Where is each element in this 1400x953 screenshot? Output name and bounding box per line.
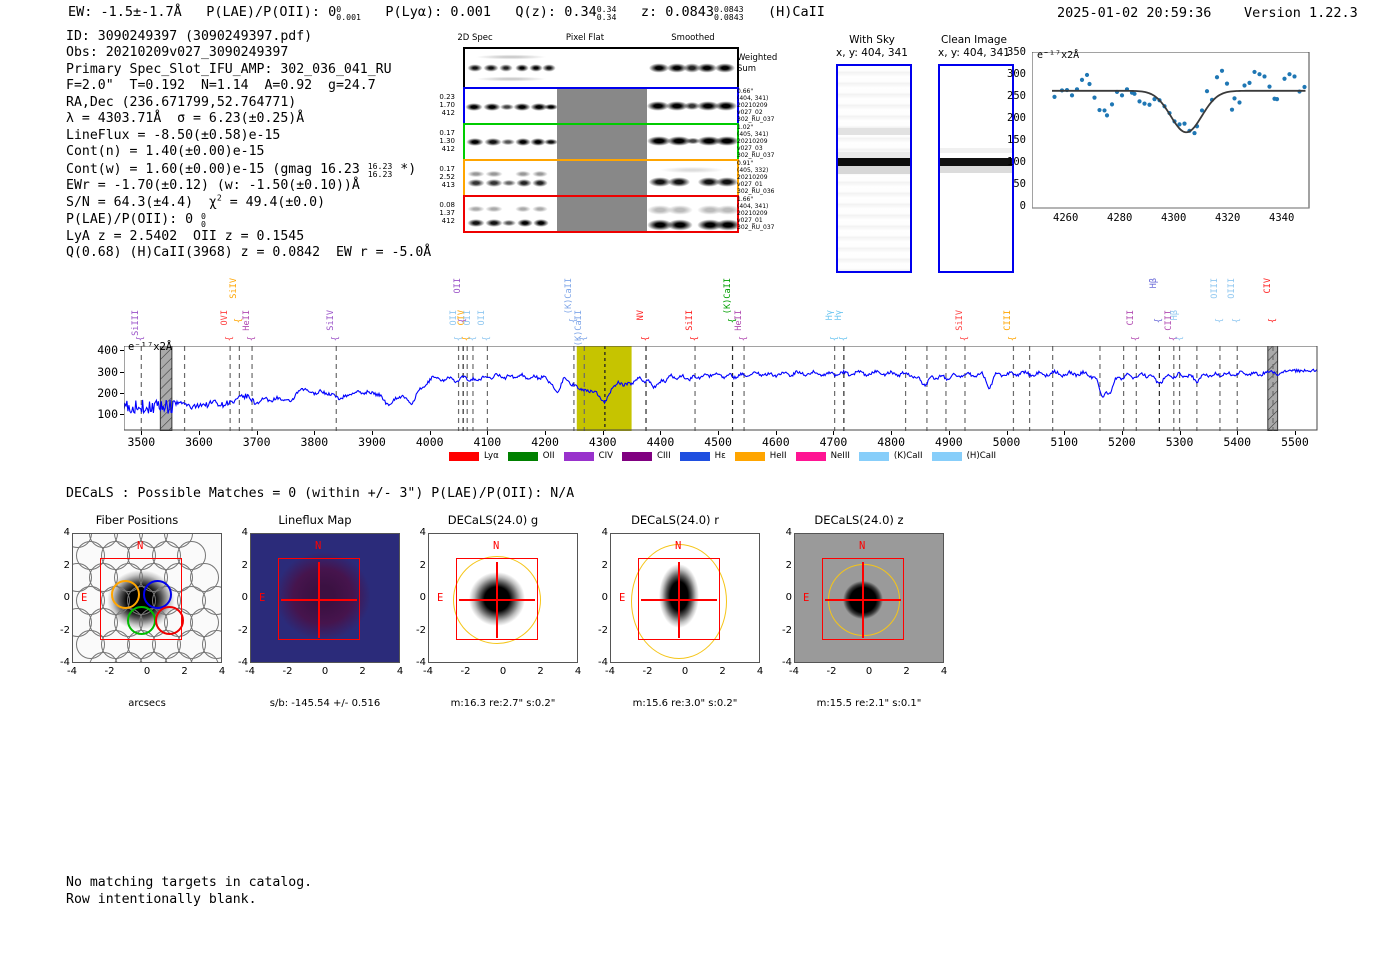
info-z: LyA z = 2.5402 OII z = 0.1545 [66,229,431,245]
spec2d-col-title-smoothed: Smoothed [653,33,733,43]
spectrum-xtick-3600: 3600 [179,435,219,449]
fiber-row-1 [463,123,739,161]
fiber-2-smoothed [647,161,737,195]
fiber-0-2dspec [465,89,557,123]
legend-swatch [508,452,538,461]
panel-ytick: 4 [772,527,792,538]
with-sky-title-2: x, y: 404, 341 [822,47,922,59]
spectrum-xtick-3900: 3900 [352,435,392,449]
spectrum-line-label: SiIV [955,310,965,331]
fiber-row-3-left-1: 1.37 [429,209,455,217]
weighted-sum-2dspec [465,49,557,87]
spectrum-line-brace: { [641,336,651,341]
spectrum-line-label: OIII [1210,278,1220,299]
north-marker: N [315,540,321,552]
panel-ytick: 4 [228,527,248,538]
info-obs: Obs: 20210209v027_3090249397 [66,45,431,61]
spectrum-line-brace: { [690,336,700,341]
panel-title-0: Fiber Positions [57,513,217,527]
legend-swatch [680,452,710,461]
fiber-row-3 [463,195,739,233]
fiber-row-0-left-0: 0.23 [429,93,455,101]
legend-label: CIII [657,451,671,461]
fiber-1-pixelflat [557,125,647,159]
info-id: ID: 3090249397 (3090249397.pdf) [66,29,431,45]
legend-swatch [932,452,962,461]
gauss-xtick-4340: 4340 [1269,212,1294,224]
spectrum-xtick-mark [199,431,200,435]
spectrum-line-brace: { [839,336,849,341]
spectrum-line-label: SiII [685,310,695,331]
spectrum-line-label: HeII [734,310,744,331]
panel-ytick: 0 [50,592,70,603]
spectrum-xtick-mark [949,431,950,435]
crosshair-vertical [678,562,680,638]
spectrum-xtick-mark [1295,431,1296,435]
fiber-3-pixelflat [557,197,647,231]
north-marker: N [137,540,143,552]
gauss-ytick-150: 150 [1000,134,1026,146]
spectrum-xtick-5400: 5400 [1217,435,1257,449]
spectrum-xtick-4700: 4700 [813,435,853,449]
spectrum-line-brace: { [468,336,478,341]
legend-label: CIV [599,451,613,461]
spectrum-line-brace: { [247,336,257,341]
fiber-3-right-4: 302_RU_037 [737,224,797,232]
sn-pre: S/N = 64.3(±4.4) [66,195,209,210]
panel-ytick: -4 [406,657,426,668]
north-marker: N [675,540,681,552]
panel-xtick: 2 [529,666,553,677]
weighted-sum-label-2: Sum [737,66,807,74]
version: Version 1.22.3 [1244,5,1358,21]
legend-entry: (H)CaII [932,451,997,461]
gauss-ytick-0: 0 [1000,200,1026,212]
line-profile-plot: 350 300 250 200 150 100 50 0 4260 4280 4… [1032,52,1310,220]
info-lambda: λ = 4303.71Å σ = 6.23(±0.25)Å [66,111,431,127]
cont-w-post: *) [392,162,416,177]
spectrum-xtick-4200: 4200 [525,435,565,449]
gauss-xtick-4300: 4300 [1161,212,1186,224]
panel-image-1[interactable]: NE [250,533,400,663]
panel-xtick: 4 [932,666,956,677]
legend-entry: (K)CaII [859,451,923,461]
z-species: (H)CaII [768,4,825,20]
info-lineflux: LineFlux = -8.50(±0.58)e-15 [66,128,431,144]
panel-ytick: 0 [228,592,248,603]
spectrum-xtick-mark [430,431,431,435]
spectrum-line-label: CII [1126,310,1136,326]
panel-ytick: 0 [406,592,426,603]
info-plae-frac: 00 [201,212,206,228]
fiber-row-0-left-2: 412 [429,109,455,117]
spectrum-line-brace: { [1215,318,1225,323]
panel-ytick: -4 [50,657,70,668]
spectrum-xtick-mark [545,431,546,435]
panel-ytick: -4 [772,657,792,668]
spectrum-xtick-5000: 5000 [987,435,1027,449]
spectrum-xtick-5100: 5100 [1044,435,1084,449]
gauss-xtick-4280: 4280 [1107,212,1132,224]
spec2d-weighted-sum-row [463,47,739,89]
spectrum-xtick-mark [141,431,142,435]
spectrum-line-label: Hβ [1149,278,1159,288]
spectrum-line-label: Hβ [1170,310,1180,320]
fiber-row-0-left-1: 1.70 [429,101,455,109]
gauss-flux-annotation: e⁻¹⁷x2Å [1037,50,1079,61]
legend-entry: OII [508,451,555,461]
crosshair-vertical [496,562,498,638]
spectrum-ytick-mark [120,350,124,351]
spec2d-col-title-2dspec: 2D Spec [435,33,515,43]
spectrum-xtick-mark [891,431,892,435]
chi-symbol: χ [209,195,217,210]
fiber-3-2dspec [465,197,557,231]
plae-value: 0 [328,4,336,20]
spectrum-line-brace: { [739,336,749,341]
spectrum-line-brace: { [1131,336,1141,341]
panel-ytick: 0 [772,592,792,603]
spectrum-xtick-3500: 3500 [121,435,161,449]
spectrum-line-label: OIII [1227,278,1237,299]
spectrum-xtick-mark [718,431,719,435]
spectrum-ytick-mark [120,372,124,373]
panel-xtick: -2 [98,666,122,677]
sn-post: = 49.4(±0.0) [222,195,325,210]
spectrum-xtick-mark [487,431,488,435]
spectrum-xtick-5200: 5200 [1102,435,1142,449]
spectrum-xtick-mark [833,431,834,435]
legend-entry: Lyα [449,451,499,461]
legend-swatch [622,452,652,461]
panel-ytick: 0 [588,592,608,603]
spectrum-xtick-4800: 4800 [871,435,911,449]
panel-title-2: DECaLS(24.0) g [413,513,573,527]
spectrum-legend: LyαOIICIVCIIIHεHeIINeIII(K)CaII(H)CaII [449,451,1005,461]
fiber-0-smoothed [647,89,737,123]
spectrum-ytick-200: 200 [88,386,118,400]
spectrum-xtick-mark [372,431,373,435]
spectrum-line-brace: { [136,336,146,341]
spectrum-axes [124,346,1318,431]
fiber-row-1-left-1: 1.30 [429,137,455,145]
panel-ytick: 4 [50,527,70,538]
spectrum-xtick-mark [314,431,315,435]
panel-ytick: -2 [50,625,70,636]
spectrum-ytick-mark [120,414,124,415]
gauss-xtick-4320: 4320 [1215,212,1240,224]
east-marker: E [437,592,443,604]
panel-ytick: 2 [772,560,792,571]
info-cont-w: Cont(w) = 1.60(±0.00)e-15 (gmag 16.23 16… [66,161,431,179]
spectrum-xtick-mark [257,431,258,435]
qz-label: Q(z): [515,4,556,20]
target-info-block: ID: 3090249397 (3090249397.pdf) Obs: 202… [66,29,431,262]
spectrum-line-brace: { [1175,336,1185,341]
panel-xtick: 2 [351,666,375,677]
legend-swatch [564,452,594,461]
north-marker: N [493,540,499,552]
spectrum-line-brace: { [1268,318,1278,323]
crosshair-vertical [318,562,320,638]
spectrum-ytick-400: 400 [88,343,118,357]
legend-label: Hε [715,451,726,461]
z-frac: 0.08430.0843 [714,5,744,21]
timestamp-version: 2025-01-02 20:59:36 Version 1.22.3 [1057,5,1358,21]
weighted-sum-smoothed [647,49,737,87]
gauss-ytick-200: 200 [1000,112,1026,124]
footer-note: No matching targets in catalog. Row inte… [66,875,312,908]
plya-value: 0.001 [450,4,491,20]
legend-label: NeIII [831,451,850,461]
spectrum-line-brace: { [1232,318,1242,323]
east-marker: E [803,592,809,604]
legend-label: OII [543,451,555,461]
spectrum-xtick-5500: 5500 [1275,435,1315,449]
panel-ytick: -2 [228,625,248,636]
plae-frac: 00.001 [336,5,361,21]
ew-label: EW: [68,4,92,20]
spectrum-line-label: CIII [1003,310,1013,331]
spectrum-xtick-4600: 4600 [756,435,796,449]
legend-label: (K)CaII [894,451,923,461]
gauss-ytick-300: 300 [1000,68,1026,80]
panel-xtick: 4 [566,666,590,677]
spectrum-xtick-mark [1180,431,1181,435]
panel-xtick: 0 [135,666,159,677]
spectrum-line-brace: { [1154,318,1164,323]
plae-label: P(LAE)/P(OII): [206,4,320,20]
gauss-ytick-100: 100 [1000,156,1026,168]
spectrum-flux-annotation: e⁻¹⁷x2Å [128,341,172,353]
panel-ytick: 2 [588,560,608,571]
gauss-xtick-4260: 4260 [1053,212,1078,224]
gauss-svg [1032,52,1310,210]
spectrum-xtick-mark [1237,431,1238,435]
spectrum-line-label: OII [463,310,473,326]
panel-ytick: 2 [228,560,248,571]
spectrum-xtick-mark [776,431,777,435]
spectrum-line-label: OII [477,310,487,326]
spectrum-xtick-mark [603,431,604,435]
cont-w-frac: 16.2316.23 [368,162,393,178]
panel-image-4[interactable]: NE [794,533,944,663]
info-q: Q(0.68) (H)CaII(3968) z = 0.0842 EW r = … [66,245,431,261]
spectrum-line-brace: { [331,336,341,341]
fiber-1-2dspec [465,125,557,159]
panel-image-3[interactable]: NE [610,533,760,663]
panel-image-2[interactable]: NE [428,533,578,663]
info-sn: S/N = 64.3(±4.4) χ2 = 49.4(±0.0) [66,195,431,211]
panel-xtick: 2 [895,666,919,677]
panel-title-3: DECaLS(24.0) r [595,513,755,527]
info-ewr: EWr = -1.70(±0.12) (w: -1.50(±0.10))Å [66,178,431,194]
footer-line-1: No matching targets in catalog. [66,875,312,892]
fiber-3-smoothed [647,197,737,231]
legend-swatch [449,452,479,461]
weighted-sum-pixelflat [557,49,647,87]
timestamp: 2025-01-02 20:59:36 [1057,5,1211,21]
spectrum-xtick-mark [1007,431,1008,435]
red-aperture-box [100,558,182,640]
fiber-2-pixelflat [557,161,647,195]
legend-swatch [859,452,889,461]
gauss-ytick-50: 50 [1000,178,1026,190]
gauss-ytick-250: 250 [1000,90,1026,102]
panel-xtick: 4 [748,666,772,677]
spectrum-xtick-4300: 4300 [583,435,623,449]
spec2d-col-title-pixelflat: Pixel Flat [545,33,625,43]
gauss-ytick-350: 350 [1000,46,1026,58]
spectrum-line-label: SiIII [131,310,141,336]
east-marker: E [259,592,265,604]
panel-ytick: 4 [588,527,608,538]
spectrum-line-label: HeII [242,310,252,331]
footer-line-2: Row intentionally blank. [66,892,312,909]
weighted-sum-label-1: Weighted [737,55,807,63]
legend-entry: CIII [622,451,671,461]
info-params: F=2.0" T=0.192 N=1.14 A=0.92 g=24.7 [66,78,431,94]
spectrum-line-label: OVI [220,310,230,326]
fiber-row-3-left-0: 0.08 [429,201,455,209]
spectrum-line-label: CIV [1263,278,1273,294]
plya-label: P(Lyα): [385,4,442,20]
panel-xtick: 2 [173,666,197,677]
panel-xtick: 0 [673,666,697,677]
spectrum-ytick-mark [120,393,124,394]
fiber-row-2-left-1: 2.52 [429,173,455,181]
with-sky-image [836,64,912,273]
info-primary: Primary Spec_Slot_IFU_AMP: 302_036_041_R… [66,62,431,78]
spectrum-xtick-3800: 3800 [294,435,334,449]
panel-xtick: -2 [820,666,844,677]
panel-ytick: 2 [406,560,426,571]
spectrum-line-label: Hγ [834,310,844,320]
spectrum-line-brace: { [225,336,235,341]
spectrum-line-brace: { [1008,336,1018,341]
legend-label: HeII [770,451,787,461]
info-cont-n: Cont(n) = 1.40(±0.00)e-15 [66,144,431,160]
panel-ytick: 2 [50,560,70,571]
spectrum-xtick-5300: 5300 [1160,435,1200,449]
fiber-row-1-left-2: 412 [429,145,455,153]
panel-caption-4: m:15.5 re:2.1" s:0.1" [759,698,979,709]
spectrum-line-label: NV [636,310,646,320]
fiber-2-right-4: 302_RU_036 [737,188,797,196]
panel-xtick: -2 [636,666,660,677]
with-sky-title-1: With Sky [822,34,922,46]
panel-xtick: 0 [491,666,515,677]
qz-value: 0.34 [564,4,597,20]
north-marker: N [859,540,865,552]
clean-image-title-1: Clean Image [924,34,1024,46]
z-value: 0.0843 [665,4,714,20]
plae-pre: P(LAE)/P(OII): 0 [66,212,201,227]
east-marker: E [81,592,87,604]
panel-ytick: -4 [228,657,248,668]
spectrum-xtick-4500: 4500 [698,435,738,449]
fiber-0-right-4: 302_RU_037 [737,116,797,124]
legend-swatch [796,452,826,461]
legend-entry: HeII [735,451,787,461]
fiber-row-2 [463,159,739,197]
panel-xtick: -2 [454,666,478,677]
fiber-1-right-4: 302_RU_037 [737,152,797,160]
spectrum-xtick-mark [1122,431,1123,435]
spectrum-xtick-4000: 4000 [410,435,450,449]
legend-entry: NeIII [796,451,850,461]
panel-ytick: -2 [406,625,426,636]
cont-w-pre: Cont(w) = 1.60(±0.00)e-15 (gmag 16.23 [66,162,368,177]
panel-ytick: -2 [588,625,608,636]
legend-swatch [735,452,765,461]
spectrum-xtick-4400: 4400 [640,435,680,449]
spectrum-line-brace: { [482,336,492,341]
east-marker: E [619,592,625,604]
spectrum-line-label: (K)CaII [564,278,574,314]
legend-label: Lyα [484,451,499,461]
panel-title-1: Lineflux Map [235,513,395,527]
fiber-row-0 [463,87,739,125]
summary-header: EW: -1.5±-1.7Å P(LAE)/P(OII): 000.001 P(… [68,4,825,20]
fiber-2-2dspec [465,161,557,195]
ew-value: -1.5±-1.7Å [101,4,182,20]
panel-xtick: 0 [857,666,881,677]
spectrum-svg [124,346,1318,431]
qz-frac: 0.340.34 [597,5,617,21]
decals-header: DECaLS : Possible Matches = 0 (within +/… [66,486,574,501]
panel-title-4: DECaLS(24.0) z [779,513,939,527]
fiber-row-2-left-2: 413 [429,181,455,189]
spectrum-xtick-mark [1064,431,1065,435]
spectrum-xtick-4100: 4100 [467,435,507,449]
panel-xtick: 2 [711,666,735,677]
fiber-0-pixelflat [557,89,647,123]
z-label: z: [641,4,657,20]
spectrum-ytick-300: 300 [88,365,118,379]
spectrum-line-label: OII [453,278,463,294]
spectrum-line-brace: { [960,336,970,341]
fiber-1-smoothed [647,125,737,159]
info-radec: RA,Dec (236.671799,52.764771) [66,95,431,111]
legend-entry: Hε [680,451,726,461]
spectrum-line-label: SiIV [229,278,239,299]
legend-entry: CIV [564,451,613,461]
panel-ytick: 4 [406,527,426,538]
spectrum-line-brace: { [579,336,589,341]
fiber-row-3-left-2: 412 [429,217,455,225]
panel-xtick: 0 [313,666,337,677]
fiber-row-2-left-0: 0.17 [429,165,455,173]
panel-ytick: -2 [772,625,792,636]
spectrum-ytick-100: 100 [88,407,118,421]
info-plae: P(LAE)/P(OII): 0 00 [66,211,431,229]
legend-label: (H)CaII [967,451,997,461]
panel-xtick: -2 [276,666,300,677]
crosshair-vertical [862,562,864,638]
spectrum-line-label: SiIV [326,310,336,331]
panel-ytick: -4 [588,657,608,668]
spectrum-xtick-mark [660,431,661,435]
panel-image-0[interactable]: NE [72,533,222,663]
spectrum-xtick-3700: 3700 [237,435,277,449]
fiber-row-1-left-0: 0.17 [429,129,455,137]
spectrum-line-label: (K)CaII [723,278,733,314]
spectrum-xtick-4900: 4900 [929,435,969,449]
